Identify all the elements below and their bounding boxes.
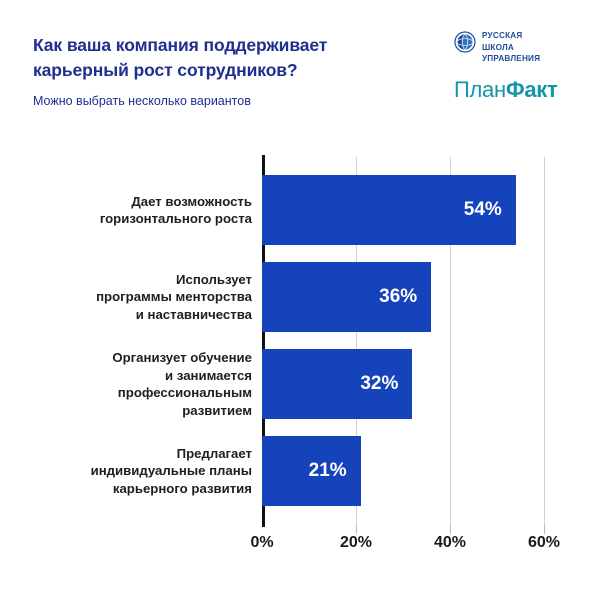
x-tick-label: 60% bbox=[528, 534, 560, 552]
logo-block: РУССКАЯ ШКОЛА УПРАВЛЕНИЯ ПланФакт bbox=[454, 30, 574, 103]
bar[interactable]: 32% bbox=[262, 349, 412, 419]
x-tick-label: 0% bbox=[250, 534, 273, 552]
bar-value-label: 32% bbox=[360, 373, 412, 395]
globe-icon bbox=[454, 31, 476, 58]
rsu-logo: РУССКАЯ ШКОЛА УПРАВЛЕНИЯ bbox=[454, 30, 574, 65]
gridline-60 bbox=[544, 157, 545, 525]
bar-row: 32% bbox=[262, 349, 544, 419]
x-tick-label: 40% bbox=[434, 534, 466, 552]
page-subtitle: Можно выбрать несколько вариантов bbox=[33, 93, 433, 109]
category-label: Предлагает индивидуальные планы карьерно… bbox=[22, 445, 252, 498]
chart-area: 54%36%32%21% 0%20%40%60% Дает возможност… bbox=[0, 140, 600, 600]
bar-value-label: 54% bbox=[464, 199, 516, 221]
chart-page: Как ваша компания поддерживает карьерный… bbox=[0, 0, 600, 600]
plot-region: 54%36%32%21% bbox=[262, 157, 544, 525]
x-tick-mark bbox=[356, 525, 357, 534]
planfact-logo-plan: План bbox=[454, 77, 506, 102]
category-label: Организует обучение и занимается професс… bbox=[22, 349, 252, 419]
category-label: Использует программы менторства и настав… bbox=[22, 271, 252, 324]
bar-value-label: 21% bbox=[309, 460, 361, 482]
planfact-logo: ПланФакт bbox=[454, 77, 574, 103]
bar-row: 36% bbox=[262, 262, 544, 332]
category-label: Дает возможность горизонтального роста bbox=[22, 193, 252, 228]
bar[interactable]: 36% bbox=[262, 262, 431, 332]
page-title: Как ваша компания поддерживает карьерный… bbox=[33, 33, 433, 83]
bar-row: 54% bbox=[262, 175, 544, 245]
rsu-logo-text: РУССКАЯ ШКОЛА УПРАВЛЕНИЯ bbox=[482, 30, 540, 65]
x-tick-mark bbox=[544, 525, 545, 534]
chart-header: Как ваша компания поддерживает карьерный… bbox=[0, 0, 600, 140]
x-tick-label: 20% bbox=[340, 534, 372, 552]
planfact-logo-fact: Факт bbox=[506, 77, 558, 102]
bar[interactable]: 21% bbox=[262, 436, 361, 506]
x-tick-mark bbox=[450, 525, 451, 534]
bar-row: 21% bbox=[262, 436, 544, 506]
bar[interactable]: 54% bbox=[262, 175, 516, 245]
bar-value-label: 36% bbox=[379, 286, 431, 308]
title-block: Как ваша компания поддерживает карьерный… bbox=[33, 33, 433, 109]
